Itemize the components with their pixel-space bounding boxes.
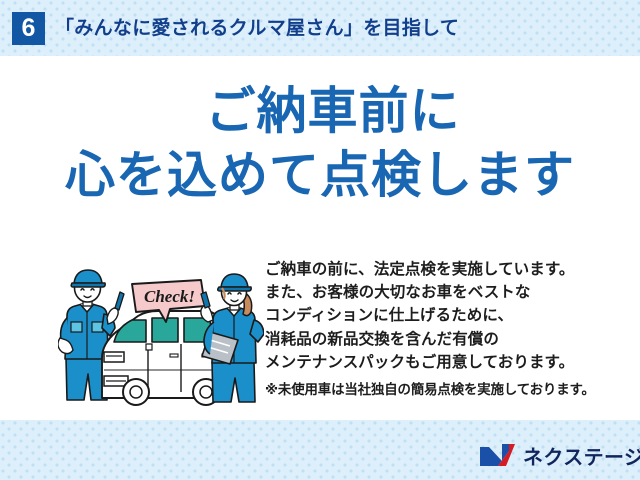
nextage-n-mark-icon: [478, 442, 516, 468]
body-line-5: メンテナンスパックもご用意しております。: [265, 351, 625, 374]
body-line-4: 消耗品の新品交換を含んだ有償の: [265, 328, 625, 351]
section-number-badge: 6: [12, 12, 45, 45]
main-heading-line-1: ご納車前に: [0, 86, 640, 136]
brand-logo: ネクステージ: [478, 438, 640, 472]
header-title: 「みんなに愛されるクルマ屋さん」を目指して: [55, 13, 459, 40]
vehicle-minivan: [102, 311, 220, 405]
check-bubble-label: Check!: [144, 287, 195, 306]
body-line-1: ご納車の前に、法定点検を実施しています。: [265, 258, 625, 281]
illustration-svg: Check!: [58, 266, 264, 406]
brand-name: ネクステージ: [523, 441, 640, 470]
body-copy: ご納車の前に、法定点検を実施しています。 また、お客様の大切なお車をベストな コ…: [265, 258, 625, 401]
main-heading-line-2: 心を込めて点検します: [0, 150, 640, 200]
promo-slide: 6 「みんなに愛されるクルマ屋さん」を目指して ご納車前に 心を込めて点検します: [0, 0, 640, 480]
mechanics-illustration: Check!: [58, 266, 264, 406]
body-line-3: コンディションに仕上げるために、: [265, 304, 625, 327]
body-line-2: また、お客様の大切なお車をベストな: [265, 281, 625, 304]
main-heading: ご納車前に 心を込めて点検します: [0, 86, 640, 200]
body-note: ※未使用車は当社独自の簡易点検を実施しております。: [265, 378, 625, 401]
